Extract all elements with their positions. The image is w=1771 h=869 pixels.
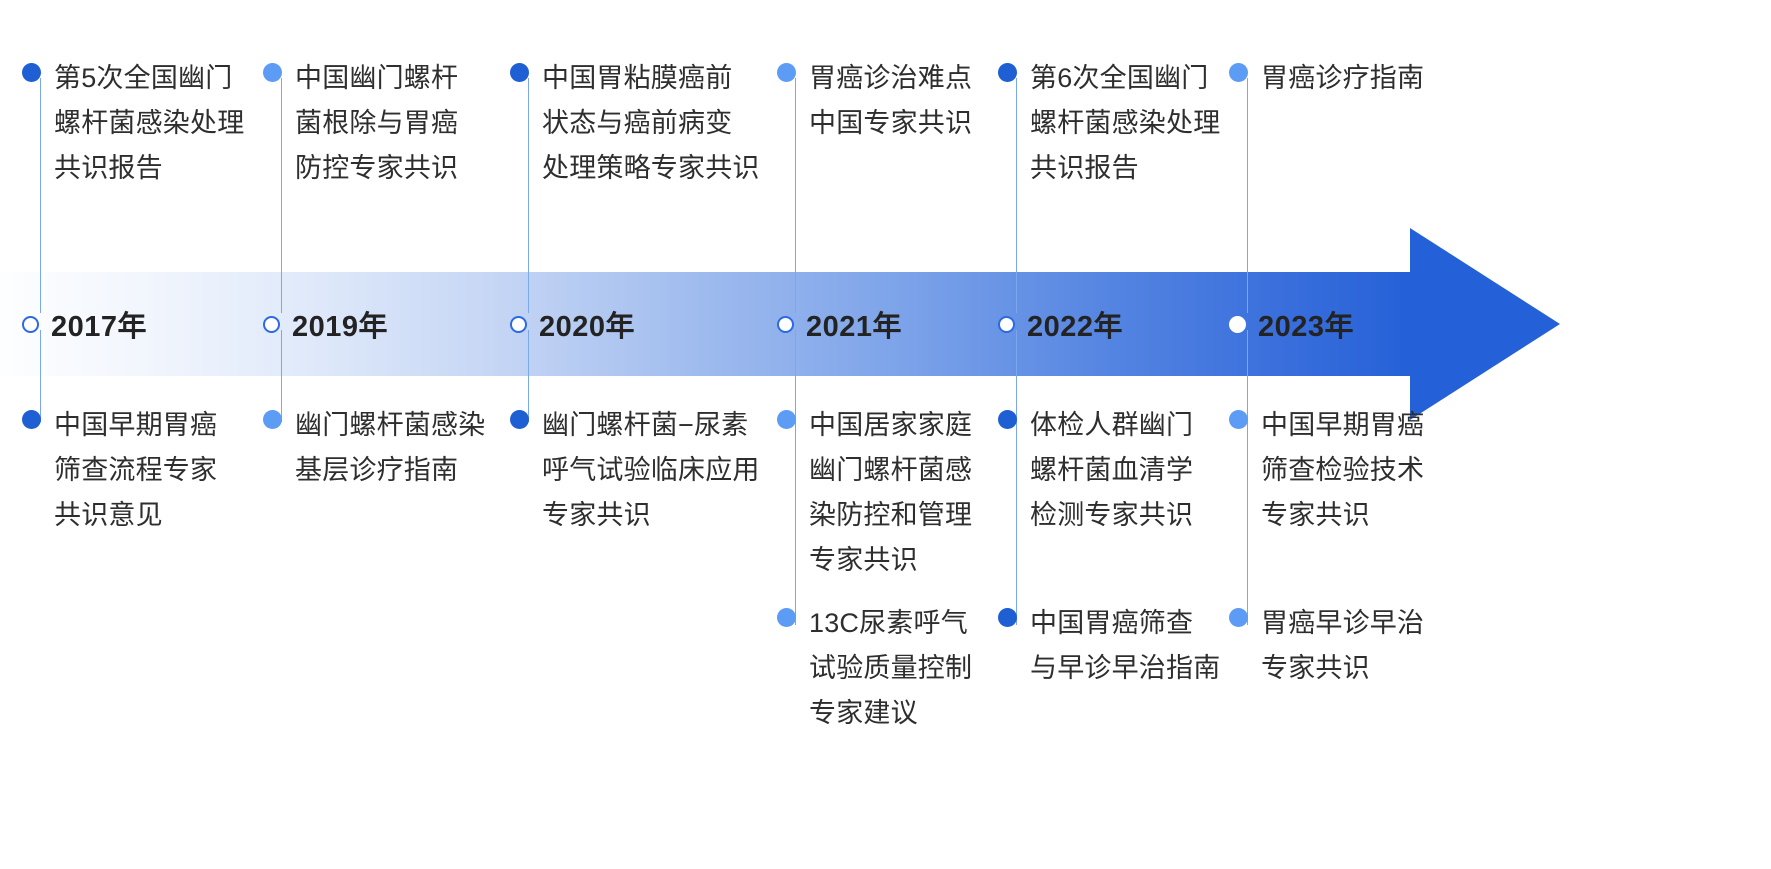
event-text: 第5次全国幽门 螺杆菌感染处理 共识报告 (54, 56, 244, 191)
event-dot-icon (263, 410, 282, 429)
event-dot-icon (510, 410, 529, 429)
event-text: 中国居家家庭 幽门螺杆菌感 染防控和管理 专家共识 (809, 403, 972, 583)
year-label: 2020年 (539, 303, 635, 345)
event-dot-icon (777, 63, 796, 82)
year-marker-2019[interactable]: 2019年 (263, 303, 388, 345)
year-marker-2021[interactable]: 2021年 (777, 303, 902, 345)
event-dot-icon (777, 410, 796, 429)
event-item[interactable]: 中国胃癌筛查 与早诊早治指南 (998, 601, 1220, 691)
year-marker-2023[interactable]: 2023年 (1229, 303, 1354, 345)
event-item[interactable]: 幽门螺杆菌感染 基层诊疗指南 (263, 403, 485, 493)
year-label: 2019年 (292, 303, 388, 345)
event-text: 第6次全国幽门 螺杆菌感染处理 共识报告 (1030, 56, 1220, 191)
event-dot-icon (263, 63, 282, 82)
event-text: 13C尿素呼气 试验质量控制 专家建议 (809, 601, 972, 736)
event-item[interactable]: 13C尿素呼气 试验质量控制 专家建议 (777, 601, 972, 736)
year-ring-icon (22, 316, 39, 333)
event-text: 幽门螺杆菌−尿素 呼气试验临床应用 专家共识 (542, 403, 760, 538)
event-item[interactable]: 第5次全国幽门 螺杆菌感染处理 共识报告 (22, 56, 244, 191)
year-marker-2022[interactable]: 2022年 (998, 303, 1123, 345)
event-text: 中国早期胃癌 筛查流程专家 共识意见 (54, 403, 217, 538)
event-item[interactable]: 胃癌诊治难点 中国专家共识 (777, 56, 972, 146)
year-ring-icon (998, 316, 1015, 333)
event-dot-icon (777, 608, 796, 627)
connector-line-2023-top (1247, 78, 1248, 313)
event-text: 胃癌诊疗指南 (1261, 56, 1424, 101)
event-dot-icon (998, 410, 1017, 429)
event-item[interactable]: 中国早期胃癌 筛查检验技术 专家共识 (1229, 403, 1424, 538)
event-text: 中国早期胃癌 筛查检验技术 专家共识 (1261, 403, 1424, 538)
event-item[interactable]: 中国早期胃癌 筛查流程专家 共识意见 (22, 403, 217, 538)
year-marker-2017[interactable]: 2017年 (22, 303, 147, 345)
event-text: 中国幽门螺杆 菌根除与胃癌 防控专家共识 (295, 56, 458, 191)
event-dot-icon (998, 608, 1017, 627)
year-ring-icon (263, 316, 280, 333)
event-dot-icon (1229, 608, 1248, 627)
year-ring-icon (510, 316, 527, 333)
event-item[interactable]: 第6次全国幽门 螺杆菌感染处理 共识报告 (998, 56, 1220, 191)
event-dot-icon (998, 63, 1017, 82)
event-text: 中国胃癌筛查 与早诊早治指南 (1030, 601, 1220, 691)
year-ring-icon (777, 316, 794, 333)
event-text: 幽门螺杆菌感染 基层诊疗指南 (295, 403, 485, 493)
event-item[interactable]: 体检人群幽门 螺杆菌血清学 检测专家共识 (998, 403, 1193, 538)
event-dot-icon (22, 63, 41, 82)
year-label: 2017年 (51, 303, 147, 345)
event-text: 胃癌诊治难点 中国专家共识 (809, 56, 972, 146)
event-item[interactable]: 中国胃粘膜癌前 状态与癌前病变 处理策略专家共识 (510, 56, 760, 191)
event-dot-icon (22, 410, 41, 429)
event-dot-icon (510, 63, 529, 82)
event-dot-icon (1229, 410, 1248, 429)
year-ring-icon (1229, 316, 1246, 333)
event-item[interactable]: 幽门螺杆菌−尿素 呼气试验临床应用 专家共识 (510, 403, 760, 538)
event-item[interactable]: 胃癌诊疗指南 (1229, 56, 1424, 101)
event-text: 中国胃粘膜癌前 状态与癌前病变 处理策略专家共识 (542, 56, 760, 191)
year-label: 2023年 (1258, 303, 1354, 345)
event-item[interactable]: 中国居家家庭 幽门螺杆菌感 染防控和管理 专家共识 (777, 403, 972, 583)
timeline-diagram: 2017年 2019年 2020年 2021年 2022年 2023年 第5次全… (0, 0, 1771, 869)
year-label: 2022年 (1027, 303, 1123, 345)
event-text: 胃癌早诊早治 专家共识 (1261, 601, 1424, 691)
year-label: 2021年 (806, 303, 902, 345)
event-item[interactable]: 胃癌早诊早治 专家共识 (1229, 601, 1424, 691)
event-item[interactable]: 中国幽门螺杆 菌根除与胃癌 防控专家共识 (263, 56, 458, 191)
year-marker-2020[interactable]: 2020年 (510, 303, 635, 345)
event-text: 体检人群幽门 螺杆菌血清学 检测专家共识 (1030, 403, 1193, 538)
event-dot-icon (1229, 63, 1248, 82)
